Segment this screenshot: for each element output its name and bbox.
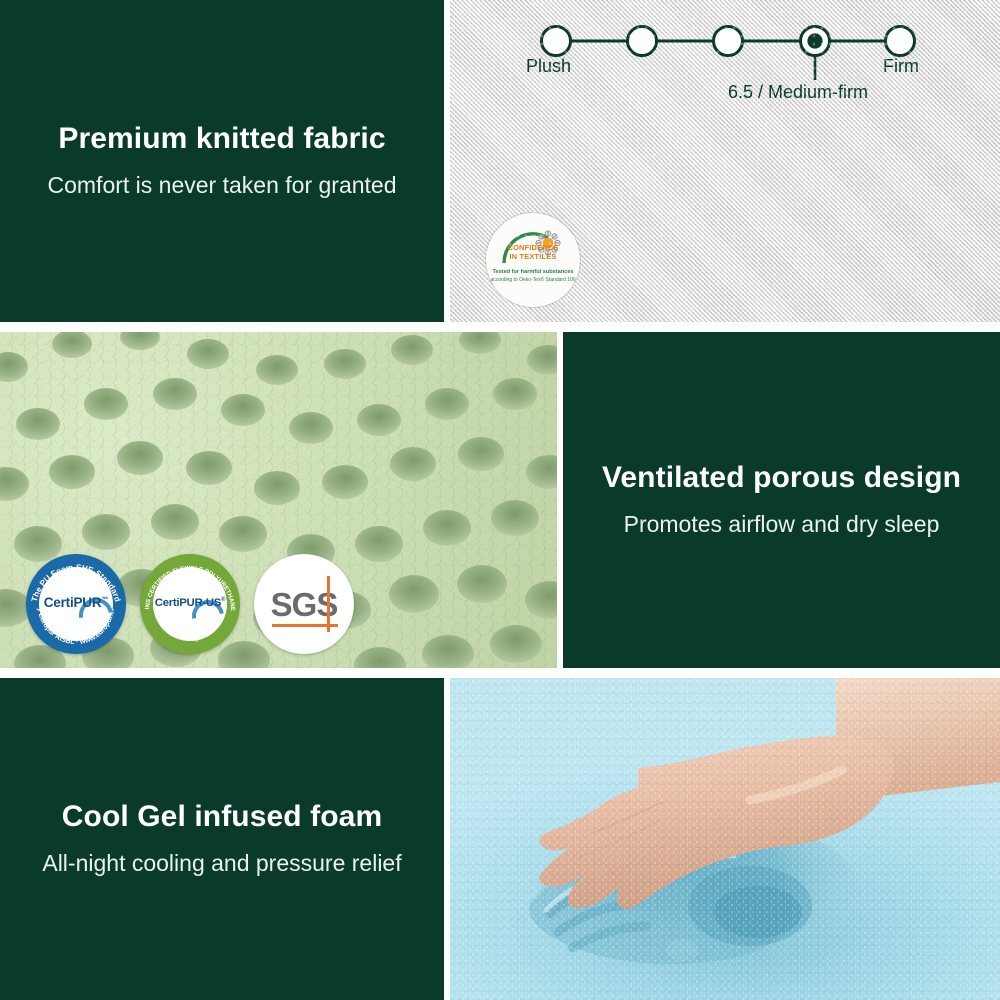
badge-certipur: The PU Foam SHE-Standard by Europur AISB…: [26, 554, 126, 654]
firmness-dot-4-selected-fill: [807, 33, 822, 48]
firmness-dot-3: [714, 27, 743, 56]
feature-row-cool-gel: Cool Gel infused foam All-night cooling …: [0, 678, 1000, 1000]
certipur-us-main-text: CertiPUR-US®: [140, 597, 240, 609]
badge-certipur-us: CONTAINS CERTIFIED FLEXIBLE POLYURETHANE…: [140, 554, 240, 654]
firmness-selected-label: 6.5 / Medium-firm: [728, 82, 868, 103]
row3-gel-foam-image: [450, 678, 1000, 1000]
row2-subline: Promotes airflow and dry sleep: [624, 511, 940, 539]
firmness-dot-2: [628, 27, 657, 56]
certipur-us-trademark: ®: [221, 597, 225, 603]
row3-headline: Cool Gel infused foam: [62, 800, 382, 835]
firmness-dot-5: [886, 27, 915, 56]
oeko-title-line1: CONFIDENCE: [508, 243, 559, 252]
row1-text-panel: Premium knitted fabric Comfort is never …: [0, 0, 444, 322]
row1-headline: Premium knitted fabric: [58, 122, 385, 157]
certipur-trademark: ™: [101, 597, 108, 604]
oeko-title-line2: IN TEXTILES: [510, 252, 557, 261]
certipur-main-text: CertiPUR™: [26, 595, 126, 610]
feature-row-premium-fabric: Premium knitted fabric Comfort is never …: [0, 0, 1000, 322]
row2-foam-image: The PU Foam SHE-Standard by Europur AISB…: [0, 332, 557, 668]
oeko-title: CONFIDENCE IN TEXTILES: [486, 243, 580, 262]
row3-text-panel: Cool Gel infused foam All-night cooling …: [0, 678, 444, 1000]
badge-sgs: SGS: [254, 554, 354, 654]
oeko-tex-badge: CONFIDENCE IN TEXTILES Tested for harmfu…: [486, 213, 580, 307]
firmness-start-label: Plush: [526, 56, 571, 77]
firmness-dot-4: [801, 27, 830, 56]
certification-badges: The PU Foam SHE-Standard by Europur AISB…: [26, 554, 354, 654]
oeko-arc: [504, 234, 548, 263]
oeko-sub2: according to Oeko-Tex® Standard 100: [486, 277, 580, 283]
firmness-scale[interactable]: Plush Firm 6.5 / Medium-firm: [450, 0, 1000, 120]
sgs-main-text: SGS: [254, 586, 354, 624]
row2-headline: Ventilated porous design: [602, 461, 961, 496]
firmness-end-label: Firm: [883, 56, 919, 77]
gel-foam-grain-texture: [450, 678, 1000, 1000]
row1-subline: Comfort is never taken for granted: [48, 172, 397, 200]
infographic-sheet: Premium knitted fabric Comfort is never …: [0, 0, 1000, 1000]
firmness-dot-1: [542, 27, 571, 56]
row3-subline: All-night cooling and pressure relief: [42, 850, 401, 878]
feature-row-ventilated-design: The PU Foam SHE-Standard by Europur AISB…: [0, 332, 1000, 668]
oeko-sub1: Tested for harmful substances: [486, 269, 580, 275]
sgs-horizontal-mark: [272, 624, 338, 627]
row1-fabric-image: Plush Firm 6.5 / Medium-firm: [450, 0, 1000, 322]
row2-text-panel: Ventilated porous design Promotes airflo…: [563, 332, 1000, 668]
oeko-sun-icon: [536, 231, 560, 255]
